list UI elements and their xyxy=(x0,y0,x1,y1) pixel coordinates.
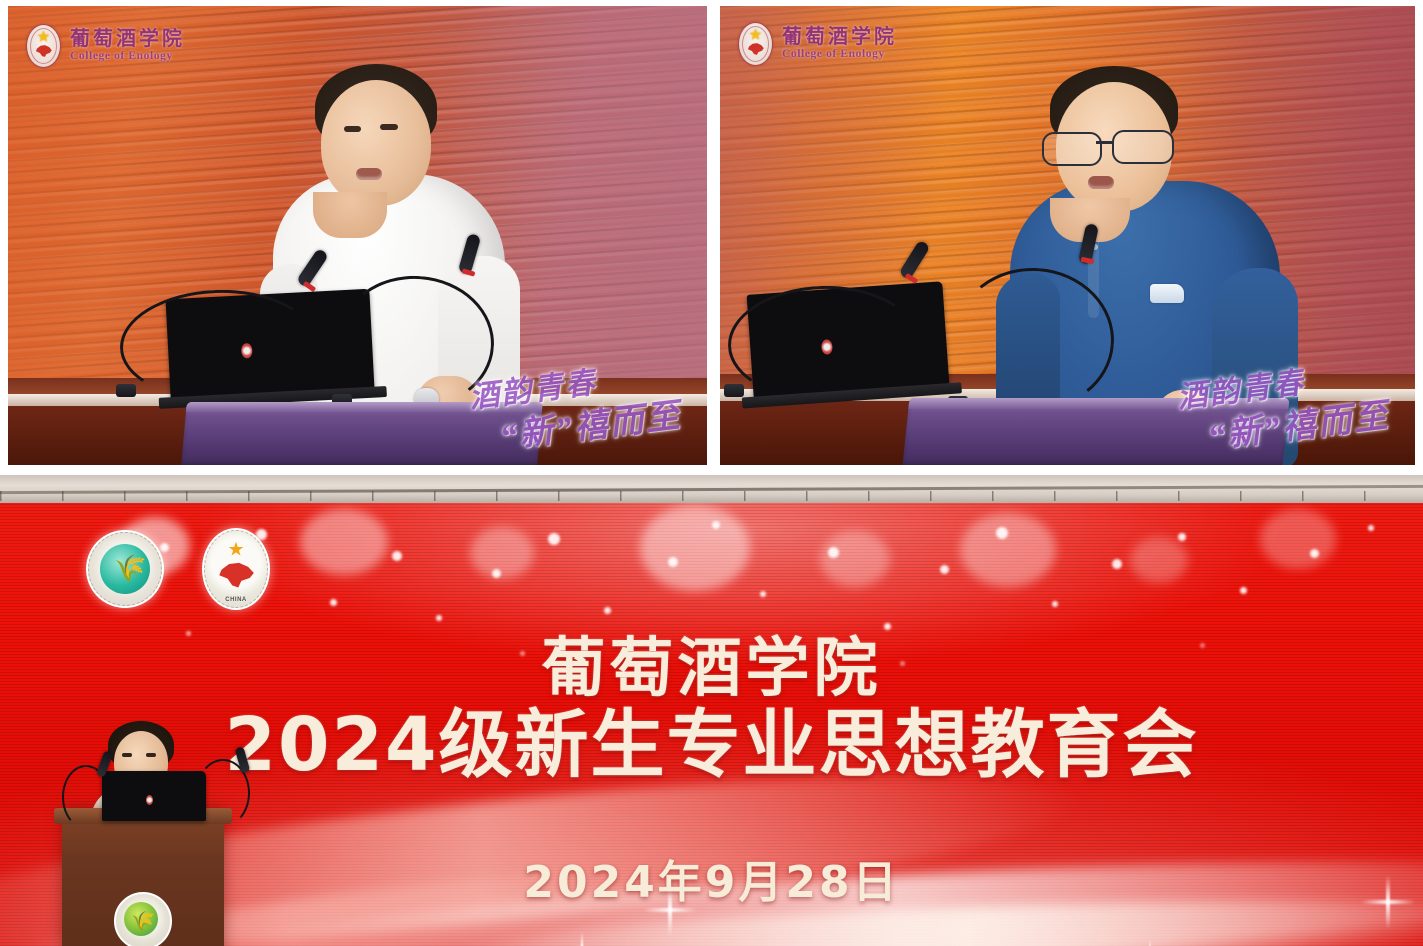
star-sparkle-icon xyxy=(1149,939,1151,946)
star-sparkle-icon xyxy=(581,932,583,946)
college-of-enology-emblem: ★ CHINA xyxy=(202,528,270,610)
photo-bottom: 🌾 ★ CHINA 葡萄酒学院 2024级新生专业思想教育会 2024年9月28… xyxy=(0,475,1423,946)
watermark-cn-text: 葡萄酒学院 xyxy=(70,29,185,50)
college-watermark-logo-right: ★ 葡萄酒学院 College of Enology xyxy=(738,22,897,66)
ceiling-strip xyxy=(0,475,1423,503)
nwafu-podium-emblem: 🌾 xyxy=(114,892,172,946)
led-screen-backdrop: 🌾 ★ CHINA 葡萄酒学院 2024级新生专业思想教育会 2024年9月28… xyxy=(0,503,1423,946)
star-icon: ★ xyxy=(227,541,244,560)
photo-left: ★ 葡萄酒学院 College of Enology 酒韵青春 “新”禧而至 xyxy=(8,6,707,465)
banner-title-line-1: 葡萄酒学院 xyxy=(0,636,1423,704)
college-watermark-logo-left: ★ 葡萄酒学院 College of Enology xyxy=(26,24,185,68)
emblem-caption: CHINA xyxy=(225,597,247,603)
microphone-bottom-1 xyxy=(62,751,116,825)
photo-right: ★ 葡萄酒学院 College of Enology 酒韵青春 “新”禧而至 xyxy=(720,6,1415,465)
microphone-bottom-2 xyxy=(196,747,256,825)
microphone-left-1 xyxy=(120,244,330,394)
microphone-right-1 xyxy=(728,238,934,396)
wheat-icon: 🌾 xyxy=(114,555,136,585)
glasses-icon xyxy=(1042,130,1178,164)
wheat-icon: 🌾 xyxy=(131,913,155,932)
watermark-en-text: College of Enology xyxy=(782,48,897,60)
enology-seal-icon: ★ xyxy=(738,22,773,66)
watermark-en-text: College of Enology xyxy=(70,50,185,62)
nwafu-university-emblem: 🌾 xyxy=(86,530,164,608)
enology-seal-icon: ★ xyxy=(26,24,61,68)
photo-collage: ★ 葡萄酒学院 College of Enology 酒韵青春 “新”禧而至 xyxy=(0,0,1423,946)
watermark-cn-text: 葡萄酒学院 xyxy=(782,27,897,48)
laptop-bottom xyxy=(102,771,206,821)
microphone-right-2 xyxy=(954,224,1140,408)
